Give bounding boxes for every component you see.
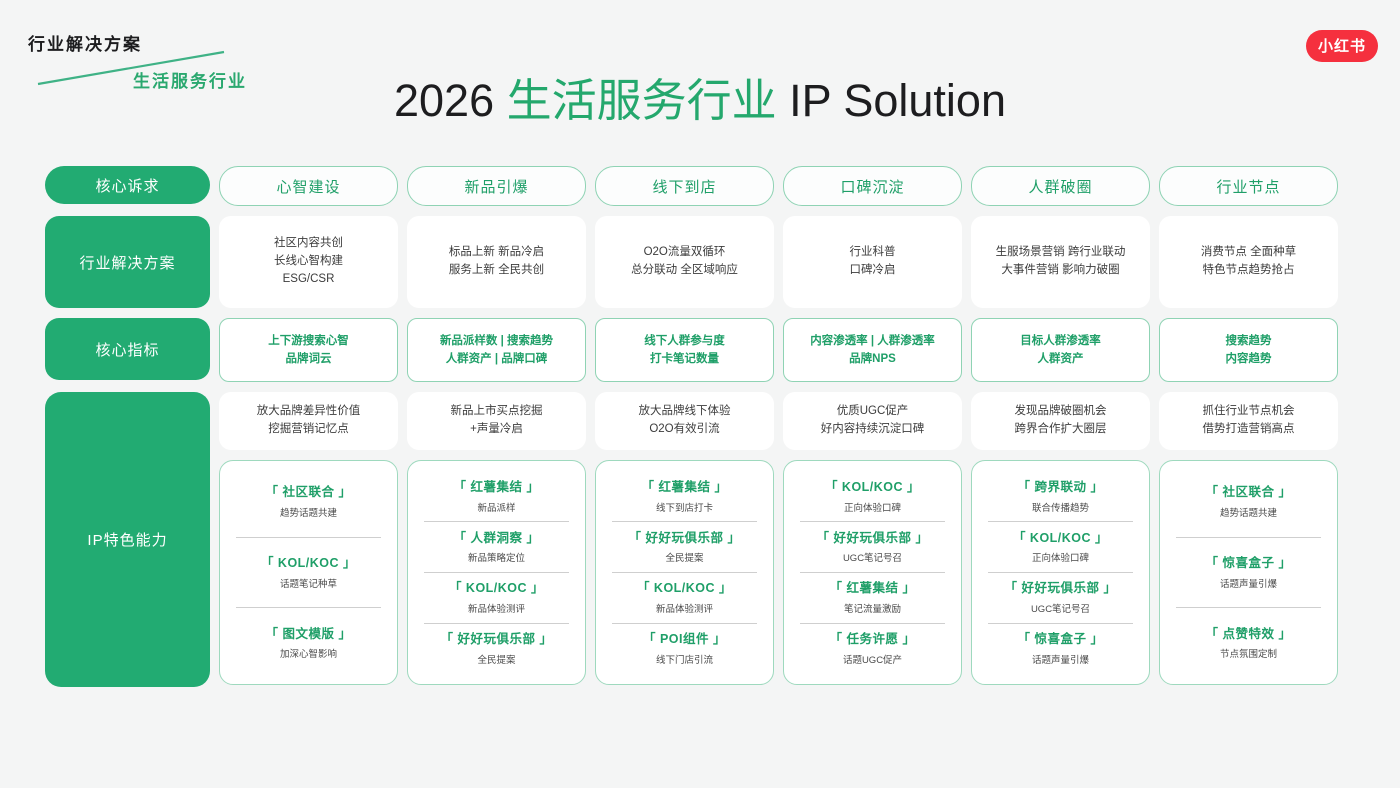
column-header-5[interactable]: 行业节点 — [1159, 166, 1338, 206]
metrics-line: 线下人群参与度 — [644, 332, 725, 350]
capability-item[interactable]: 「 人群洞察 」 新品策略定位 — [422, 529, 571, 566]
divider — [800, 521, 945, 522]
benefit-cell: 放大品牌线下体验 O2O有效引流 — [595, 392, 774, 450]
capability-title: 「 POI组件 」 — [610, 630, 759, 649]
capability-title: 「 KOL/KOC 」 — [234, 554, 383, 573]
title-highlight: 生活服务行业 — [507, 75, 777, 126]
capability-title: 「 好好玩俱乐部 」 — [986, 579, 1135, 598]
benefit-line: 挖掘营销记忆点 — [268, 421, 349, 439]
column-header-cell: 心智建设 — [219, 166, 398, 206]
divider — [988, 572, 1133, 573]
row-label-industry-solution: 行业解决方案 — [45, 216, 210, 308]
capability-title: 「 KOL/KOC 」 — [986, 529, 1135, 548]
capability-item[interactable]: 「 KOL/KOC 」 话题笔记种草 — [234, 554, 383, 591]
capability-card-1: 「 红薯集结 」 新品派样 「 人群洞察 」 新品策略定位 「 KOL/KOC … — [407, 460, 586, 685]
benefit-line: 好内容持续沉淀口碑 — [821, 421, 925, 439]
divider — [612, 623, 757, 624]
benefit-card-0: 放大品牌差异性价值 挖掘营销记忆点 — [219, 392, 398, 450]
metrics-cell: 上下游搜索心智 品牌词云 — [219, 318, 398, 382]
metrics-line: 目标人群渗透率 — [1020, 332, 1101, 350]
capability-item[interactable]: 「 社区联合 」 趋势话题共建 — [1174, 483, 1323, 520]
metrics-line: 内容渗透率 | 人群渗透率 — [810, 332, 935, 350]
capability-card-4: 「 跨界联动 」 联合传播趋势 「 KOL/KOC 」 正向体验口碑 「 好好玩… — [971, 460, 1150, 685]
solution-cell: 标品上新 新品冷启 服务上新 全民共创 — [407, 216, 586, 308]
solution-line: ESG/CSR — [283, 271, 335, 289]
metrics-card-1: 新品派样数 | 搜索趋势 人群资产 | 品牌口碑 — [407, 318, 586, 382]
capability-card-2: 「 红薯集结 」 线下到店打卡 「 好好玩俱乐部 」 全民提案 「 KOL/KO… — [595, 460, 774, 685]
capability-title: 「 惊喜盒子 」 — [986, 630, 1135, 649]
solution-line: 服务上新 全民共创 — [449, 262, 544, 280]
capability-sub: 新品体验测评 — [422, 603, 571, 616]
row-ip-capability: IP特色能力 放大品牌差异性价值 挖掘营销记忆点 新品上市买点挖掘 +声量冷启 … — [45, 392, 1356, 687]
capability-sub: 加深心智影响 — [234, 648, 383, 661]
metrics-line: 打卡笔记数量 — [650, 350, 719, 368]
capability-sub: 正向体验口碑 — [798, 502, 947, 515]
capability-item[interactable]: 「 好好玩俱乐部 」 UGC笔记号召 — [798, 529, 947, 566]
solution-line: 大事件营销 影响力破圈 — [1001, 262, 1119, 280]
benefit-line: 放大品牌差异性价值 — [257, 403, 361, 421]
metrics-line: 人群资产 — [1038, 350, 1084, 368]
divider — [800, 623, 945, 624]
title-tail: IP Solution — [777, 75, 1006, 126]
capability-title: 「 KOL/KOC 」 — [422, 579, 571, 598]
column-header-4[interactable]: 人群破圈 — [971, 166, 1150, 206]
row-label-ip-capability: IP特色能力 — [45, 392, 210, 687]
capability-title: 「 好好玩俱乐部 」 — [610, 529, 759, 548]
capability-title: 「 好好玩俱乐部 」 — [798, 529, 947, 548]
capability-sub: 全民提案 — [610, 552, 759, 565]
capability-item[interactable]: 「 KOL/KOC 」 正向体验口碑 — [798, 478, 947, 515]
capability-sub: 全民提案 — [422, 654, 571, 667]
logo-text: 小红书 — [1318, 39, 1366, 54]
benefit-line: 借势打造营销高点 — [1203, 421, 1295, 439]
capability-sub: UGC笔记号召 — [986, 603, 1135, 616]
column-header-cell: 口碑沉淀 — [783, 166, 962, 206]
page-title: 2026 生活服务行业 IP Solution — [0, 64, 1400, 129]
capability-sub: 线下门店引流 — [610, 654, 759, 667]
slide-root: 行业解决方案 生活服务行业 2026 生活服务行业 IP Solution 小红… — [0, 0, 1400, 788]
divider — [612, 572, 757, 573]
capability-title: 「 点赞特效 」 — [1174, 625, 1323, 644]
row-core-metrics: 核心指标 上下游搜索心智 品牌词云 新品派样数 | 搜索趋势 人群资产 | 品牌… — [45, 318, 1356, 382]
divider — [424, 623, 569, 624]
benefit-card-4: 发现品牌破圈机会 跨界合作扩大圈层 — [971, 392, 1150, 450]
capability-title: 「 人群洞察 」 — [422, 529, 571, 548]
capability-title: 「 任务许愿 」 — [798, 630, 947, 649]
metrics-cell: 内容渗透率 | 人群渗透率 品牌NPS — [783, 318, 962, 382]
column-header-2[interactable]: 线下到店 — [595, 166, 774, 206]
capability-sub: 趋势话题共建 — [234, 507, 383, 520]
capability-cell: 「 社区联合 」 趋势话题共建 「 惊喜盒子 」 话题声量引爆 「 点赞特效 」 — [1159, 460, 1338, 685]
metrics-cell: 搜索趋势 内容趋势 — [1159, 318, 1338, 382]
capability-item[interactable]: 「 点赞特效 」 节点氛围定制 — [1174, 625, 1323, 662]
column-header-cell: 线下到店 — [595, 166, 774, 206]
solution-card-4: 生服场景营销 跨行业联动 大事件营销 影响力破圈 — [971, 216, 1150, 308]
divider — [800, 572, 945, 573]
benefit-cell: 优质UGC促产 好内容持续沉淀口碑 — [783, 392, 962, 450]
benefit-cell: 放大品牌差异性价值 挖掘营销记忆点 — [219, 392, 398, 450]
column-header-1[interactable]: 新品引爆 — [407, 166, 586, 206]
solution-line: 行业科普 — [850, 244, 896, 262]
solution-line: 口碑冷启 — [850, 262, 896, 280]
capability-item[interactable]: 「 红薯集结 」 笔记流量激励 — [798, 579, 947, 616]
capability-row: 「 社区联合 」 趋势话题共建 「 KOL/KOC 」 话题笔记种草 「 图文模… — [219, 460, 1338, 685]
capability-sub: 话题声量引爆 — [986, 654, 1135, 667]
capability-item[interactable]: 「 KOL/KOC 」 新品体验测评 — [422, 579, 571, 616]
benefit-line: 抓住行业节点机会 — [1203, 403, 1295, 421]
capability-cell: 「 KOL/KOC 」 正向体验口碑 「 好好玩俱乐部 」 UGC笔记号召 「 … — [783, 460, 962, 685]
benefit-line: 跨界合作扩大圈层 — [1015, 421, 1107, 439]
benefit-line: O2O有效引流 — [649, 421, 719, 439]
capability-item[interactable]: 「 好好玩俱乐部 」 全民提案 — [422, 630, 571, 667]
capability-title: 「 惊喜盒子 」 — [1174, 554, 1323, 573]
divider — [988, 623, 1133, 624]
solution-cell: 社区内容共创 长线心智构建 ESG/CSR — [219, 216, 398, 308]
capability-item[interactable]: 「 POI组件 」 线下门店引流 — [610, 630, 759, 667]
capability-sub: UGC笔记号召 — [798, 552, 947, 565]
metrics-line: 人群资产 | 品牌口碑 — [446, 350, 548, 368]
capability-sub: 线下到店打卡 — [610, 502, 759, 515]
column-header-cell: 新品引爆 — [407, 166, 586, 206]
capability-cell: 「 红薯集结 」 新品派样 「 人群洞察 」 新品策略定位 「 KOL/KOC … — [407, 460, 586, 685]
capability-card-0: 「 社区联合 」 趋势话题共建 「 KOL/KOC 」 话题笔记种草 「 图文模… — [219, 460, 398, 685]
column-header-3[interactable]: 口碑沉淀 — [783, 166, 962, 206]
capability-item[interactable]: 「 任务许愿 」 话题UGC促产 — [798, 630, 947, 667]
xiaohongshu-logo: 小红书 — [1306, 30, 1378, 62]
solution-cell: O2O流量双循环 总分联动 全区域响应 — [595, 216, 774, 308]
column-header-0[interactable]: 心智建设 — [219, 166, 398, 206]
metrics-line: 品牌词云 — [286, 350, 332, 368]
row-label-core-metrics: 核心指标 — [45, 318, 210, 380]
metrics-cell: 线下人群参与度 打卡笔记数量 — [595, 318, 774, 382]
row-industry-solution: 行业解决方案 社区内容共创 长线心智构建 ESG/CSR 标品上新 新品冷启 服… — [45, 216, 1356, 308]
capability-item[interactable]: 「 跨界联动 」 联合传播趋势 — [986, 478, 1135, 515]
capability-item[interactable]: 「 KOL/KOC 」 新品体验测评 — [610, 579, 759, 616]
metrics-line: 上下游搜索心智 — [268, 332, 349, 350]
capability-sub: 新品体验测评 — [610, 603, 759, 616]
column-header-cell: 行业节点 — [1159, 166, 1338, 206]
capability-title: 「 社区联合 」 — [1174, 483, 1323, 502]
capability-title: 「 好好玩俱乐部 」 — [422, 630, 571, 649]
capability-title: 「 红薯集结 」 — [422, 478, 571, 497]
divider — [1176, 537, 1321, 538]
benefit-cell: 发现品牌破圈机会 跨界合作扩大圈层 — [971, 392, 1150, 450]
capability-title: 「 KOL/KOC 」 — [610, 579, 759, 598]
benefit-cell: 抓住行业节点机会 借势打造营销高点 — [1159, 392, 1338, 450]
metrics-cell: 目标人群渗透率 人群资产 — [971, 318, 1150, 382]
benefit-card-5: 抓住行业节点机会 借势打造营销高点 — [1159, 392, 1338, 450]
capability-item[interactable]: 「 好好玩俱乐部 」 UGC笔记号召 — [986, 579, 1135, 616]
capability-title: 「 红薯集结 」 — [798, 579, 947, 598]
solution-card-5: 消费节点 全面种草 特色节点趋势抢占 — [1159, 216, 1338, 308]
divider — [988, 521, 1133, 522]
divider — [612, 521, 757, 522]
capability-sub: 话题声量引爆 — [1174, 578, 1323, 591]
divider — [1176, 607, 1321, 608]
capability-sub: 话题UGC促产 — [798, 654, 947, 667]
solution-line: 总分联动 全区域响应 — [631, 262, 738, 280]
capability-cell: 「 红薯集结 」 线下到店打卡 「 好好玩俱乐部 」 全民提案 「 KOL/KO… — [595, 460, 774, 685]
capability-item[interactable]: 「 社区联合 」 趋势话题共建 — [234, 483, 383, 520]
benefit-line: +声量冷启 — [470, 421, 523, 439]
capability-title: 「 KOL/KOC 」 — [798, 478, 947, 497]
capability-item[interactable]: 「 好好玩俱乐部 」 全民提案 — [610, 529, 759, 566]
divider — [424, 572, 569, 573]
benefit-card-2: 放大品牌线下体验 O2O有效引流 — [595, 392, 774, 450]
metrics-card-5: 搜索趋势 内容趋势 — [1159, 318, 1338, 382]
capability-sub: 新品派样 — [422, 502, 571, 515]
capability-title: 「 图文模版 」 — [234, 625, 383, 644]
capability-item[interactable]: 「 图文模版 」 加深心智影响 — [234, 625, 383, 662]
solution-line: 消费节点 全面种草 — [1201, 244, 1296, 262]
column-header-cell: 人群破圈 — [971, 166, 1150, 206]
capability-cell: 「 社区联合 」 趋势话题共建 「 KOL/KOC 」 话题笔记种草 「 图文模… — [219, 460, 398, 685]
solution-cell: 生服场景营销 跨行业联动 大事件营销 影响力破圈 — [971, 216, 1150, 308]
title-year: 2026 — [394, 75, 507, 126]
capability-sub: 正向体验口碑 — [986, 552, 1135, 565]
metrics-line: 搜索趋势 — [1226, 332, 1272, 350]
benefit-cell: 新品上市买点挖掘 +声量冷启 — [407, 392, 586, 450]
capability-sub: 新品策略定位 — [422, 552, 571, 565]
capability-item[interactable]: 「 KOL/KOC 」 正向体验口碑 — [986, 529, 1135, 566]
solution-line: 生服场景营销 跨行业联动 — [996, 244, 1126, 262]
capability-title: 「 社区联合 」 — [234, 483, 383, 502]
row-label-core-demand: 核心诉求 — [45, 166, 210, 204]
capability-sub: 话题笔记种草 — [234, 578, 383, 591]
benefit-card-1: 新品上市买点挖掘 +声量冷启 — [407, 392, 586, 450]
capability-item[interactable]: 「 红薯集结 」 线下到店打卡 — [610, 478, 759, 515]
capability-card-5: 「 社区联合 」 趋势话题共建 「 惊喜盒子 」 话题声量引爆 「 点赞特效 」 — [1159, 460, 1338, 685]
solution-cell: 消费节点 全面种草 特色节点趋势抢占 — [1159, 216, 1338, 308]
capability-title: 「 红薯集结 」 — [610, 478, 759, 497]
solution-line: 社区内容共创 — [274, 235, 343, 253]
capability-sub: 节点氛围定制 — [1174, 648, 1323, 661]
metrics-line: 新品派样数 | 搜索趋势 — [440, 332, 553, 350]
solution-card-0: 社区内容共创 长线心智构建 ESG/CSR — [219, 216, 398, 308]
capability-cell: 「 跨界联动 」 联合传播趋势 「 KOL/KOC 」 正向体验口碑 「 好好玩… — [971, 460, 1150, 685]
metrics-line: 品牌NPS — [849, 350, 896, 368]
benefit-line: 新品上市买点挖掘 — [451, 403, 543, 421]
capability-title: 「 跨界联动 」 — [986, 478, 1135, 497]
solution-line: O2O流量双循环 — [644, 244, 726, 262]
divider — [236, 537, 381, 538]
capability-sub: 笔记流量激励 — [798, 603, 947, 616]
metrics-card-0: 上下游搜索心智 品牌词云 — [219, 318, 398, 382]
capability-item[interactable]: 「 红薯集结 」 新品派样 — [422, 478, 571, 515]
solution-card-3: 行业科普 口碑冷启 — [783, 216, 962, 308]
divider — [424, 521, 569, 522]
metrics-card-2: 线下人群参与度 打卡笔记数量 — [595, 318, 774, 382]
benefit-line: 放大品牌线下体验 — [639, 403, 731, 421]
metrics-cell: 新品派样数 | 搜索趋势 人群资产 | 品牌口碑 — [407, 318, 586, 382]
solution-line: 特色节点趋势抢占 — [1203, 262, 1295, 280]
solution-line: 长线心智构建 — [274, 253, 343, 271]
metrics-line: 内容趋势 — [1226, 350, 1272, 368]
benefit-line: 优质UGC促产 — [837, 403, 909, 421]
capability-sub: 趋势话题共建 — [1174, 507, 1323, 520]
row-benefits: 放大品牌差异性价值 挖掘营销记忆点 新品上市买点挖掘 +声量冷启 放大品牌线下体… — [219, 392, 1338, 450]
solution-matrix: 核心诉求 心智建设 新品引爆 线下到店 口碑沉淀 人群破圈 行业节点 行业解决方… — [45, 166, 1356, 697]
capability-item[interactable]: 「 惊喜盒子 」 话题声量引爆 — [986, 630, 1135, 667]
solution-card-1: 标品上新 新品冷启 服务上新 全民共创 — [407, 216, 586, 308]
capability-item[interactable]: 「 惊喜盒子 」 话题声量引爆 — [1174, 554, 1323, 591]
solution-cell: 行业科普 口碑冷启 — [783, 216, 962, 308]
benefit-card-3: 优质UGC促产 好内容持续沉淀口碑 — [783, 392, 962, 450]
row-core-demand: 核心诉求 心智建设 新品引爆 线下到店 口碑沉淀 人群破圈 行业节点 — [45, 166, 1356, 206]
metrics-card-3: 内容渗透率 | 人群渗透率 品牌NPS — [783, 318, 962, 382]
solution-card-2: O2O流量双循环 总分联动 全区域响应 — [595, 216, 774, 308]
capability-sub: 联合传播趋势 — [986, 502, 1135, 515]
benefit-line: 发现品牌破圈机会 — [1015, 403, 1107, 421]
solution-line: 标品上新 新品冷启 — [449, 244, 544, 262]
metrics-card-4: 目标人群渗透率 人群资产 — [971, 318, 1150, 382]
divider — [236, 607, 381, 608]
capability-card-3: 「 KOL/KOC 」 正向体验口碑 「 好好玩俱乐部 」 UGC笔记号召 「 … — [783, 460, 962, 685]
